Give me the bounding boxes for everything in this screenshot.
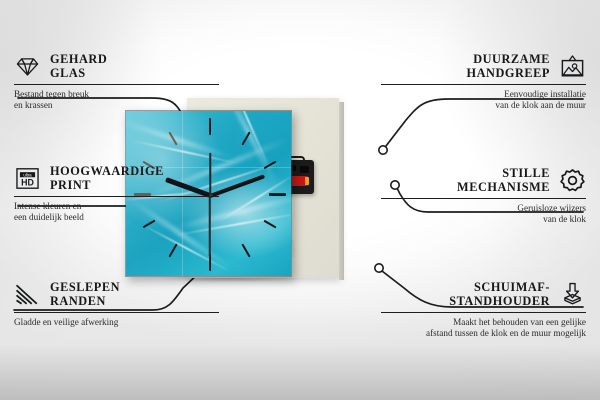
feature-title: HOOGWAARDIGE PRINT — [50, 164, 164, 192]
feature-divider — [381, 312, 586, 313]
feature-divider — [14, 312, 219, 313]
connector-dot-duurzame-handgreep — [379, 146, 387, 154]
battery-positive-terminal — [305, 177, 309, 185]
feature-header: SCHUIMAF- STANDHOUDER — [381, 280, 586, 308]
gear-icon — [559, 167, 586, 194]
down-arrow-pad-icon — [559, 281, 586, 308]
ultra-hd-icon: ultra HD — [14, 165, 41, 192]
picture-frame-icon — [559, 53, 586, 80]
connector-dot-schuimafstandhouder — [375, 264, 383, 272]
feature-header: GESLEPEN RANDEN — [14, 280, 219, 308]
feature-divider — [14, 84, 219, 85]
feature-header: DUURZAME HANDGREEP — [381, 52, 586, 80]
feature-title: SCHUIMAF- STANDHOUDER — [449, 280, 550, 308]
diamond-icon — [14, 53, 41, 80]
feature-divider — [381, 84, 586, 85]
mechanism-slot-3 — [300, 166, 309, 173]
feature-description: Bestand tegen breuk en krassen — [14, 89, 219, 112]
tick-12 — [209, 118, 211, 135]
feature-description: Maakt het behouden van een gelijke afsta… — [381, 317, 586, 340]
feature-header: GEHARD GLAS — [14, 52, 219, 80]
feature-description: Geruisloze wijzers van de klok — [381, 203, 586, 226]
feature-title: GEHARD GLAS — [50, 52, 107, 80]
feature-duurzame-handgreep: DUURZAME HANDGREEP Eenvoudige installati… — [381, 52, 586, 112]
feature-description: Eenvoudige installatie van de klok aan d… — [381, 89, 586, 112]
ultra-label: ultra — [23, 172, 32, 177]
tick-3 — [269, 193, 286, 196]
feature-geslepen-randen: GESLEPEN RANDEN Gladde en veilige afwerk… — [14, 280, 219, 328]
feature-header: ultra HD HOOGWAARDIGE PRINT — [14, 164, 219, 192]
feature-divider — [381, 198, 586, 199]
back-panel-edge — [339, 102, 344, 280]
feature-title: GESLEPEN RANDEN — [50, 280, 120, 308]
infographic-canvas: GEHARD GLAS Bestand tegen breuk en krass… — [0, 0, 600, 400]
feature-header: STILLE MECHANISME — [381, 166, 586, 194]
feature-description: Gladde en veilige afwerking — [14, 317, 219, 328]
beveled-edges-icon — [14, 281, 41, 308]
feature-hoogwaardige-print: ultra HD HOOGWAARDIGE PRINT Intense kleu… — [14, 164, 219, 224]
feature-title: DUURZAME HANDGREEP — [466, 52, 550, 80]
feature-stille-mechanisme: STILLE MECHANISME Geruisloze wijzers van… — [381, 166, 586, 226]
feature-gehard-glas: GEHARD GLAS Bestand tegen breuk en krass… — [14, 52, 219, 112]
feature-title: STILLE MECHANISME — [457, 166, 550, 194]
feature-schuimafstandhouder: SCHUIMAF- STANDHOUDER Maakt het behouden… — [381, 280, 586, 340]
feature-description: Intense kleuren en een duidelijk beeld — [14, 201, 219, 224]
feature-divider — [14, 196, 219, 197]
hd-label: HD — [21, 177, 34, 187]
